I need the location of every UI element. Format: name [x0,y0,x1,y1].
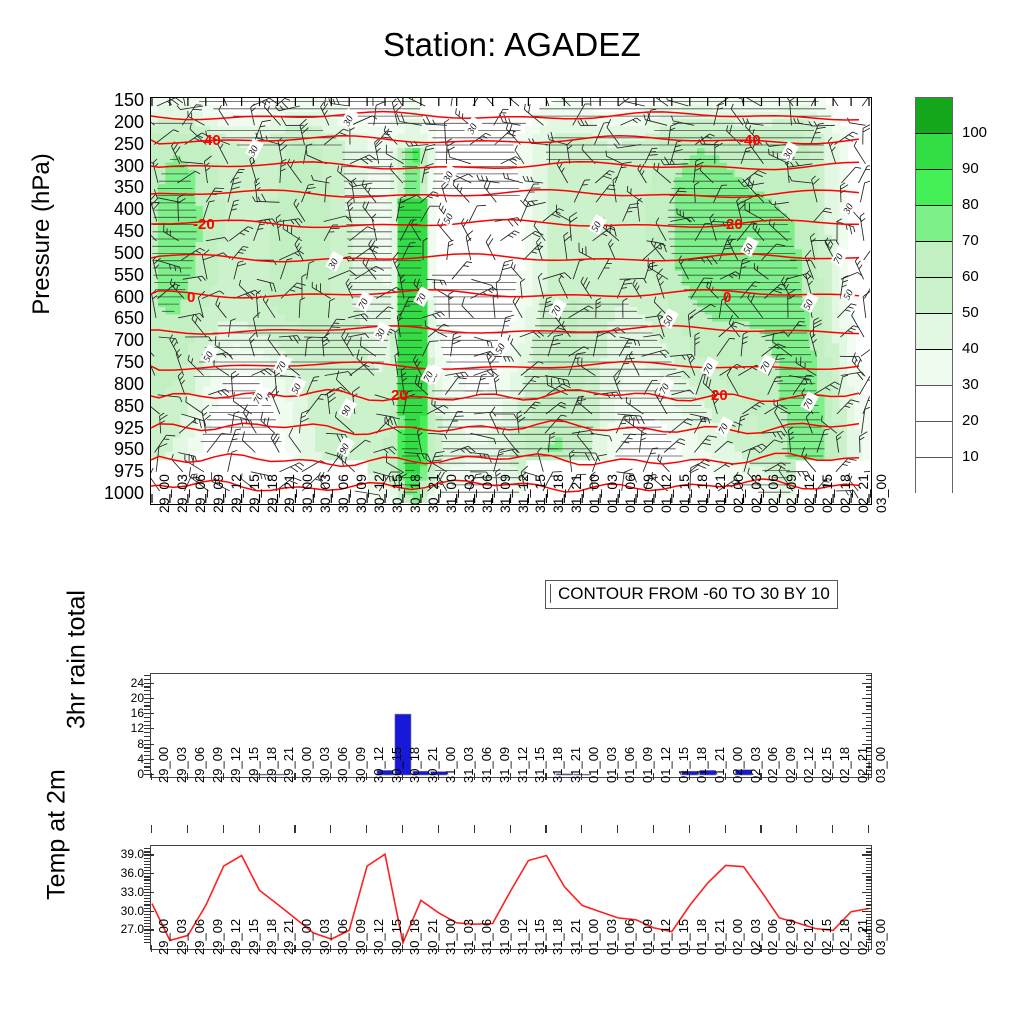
axis-tick [866,879,872,880]
axis-tick [832,825,833,833]
temp-y-tick-labels: 27.030.033.036.039.0 [96,845,144,950]
axis-tick [438,945,439,952]
axis-tick [866,898,872,899]
axis-tick [868,773,869,780]
main-x-tick: 31_00 [443,474,459,513]
axis-tick [832,773,833,780]
axis-tick [653,773,654,780]
main-y-tick-labels: 1502002503003504004505005506006507007508… [92,97,144,505]
axis-tick [796,773,797,780]
axis-tick [832,945,833,952]
main-y-tick: 350 [98,180,144,194]
rain-x-tick: 31_12 [515,747,530,783]
rain-y-tick: 24 [110,678,144,688]
axis-tick [144,933,150,934]
axis-tick [144,876,150,877]
rain-x-tick: 01_00 [586,747,601,783]
axis-tick [144,867,150,868]
axis-tick [868,945,869,952]
main-y-tick: 400 [98,202,144,216]
axis-tick [144,914,150,915]
axis-tick [259,825,260,833]
axis-tick [545,773,546,780]
axis-tick [545,945,546,952]
temp-y-axis-label: Temp at 2m [43,740,72,930]
axis-tick [144,747,150,748]
rain-x-tick: 29_12 [228,747,243,783]
temp-x-tick: 01_12 [658,919,673,955]
axis-tick [862,728,872,729]
temp-x-tick: 31_12 [515,919,530,955]
axis-tick [144,861,150,862]
axis-tick [653,825,654,833]
main-x-tick: 02_03 [748,474,764,513]
axis-tick [866,740,872,741]
axis-tick [862,713,872,714]
rain-x-tick: 31_18 [550,747,565,783]
axis-tick [866,717,872,718]
main-x-tick: 31_09 [497,474,513,513]
main-x-tick: 30_15 [389,474,405,513]
main-x-tick: 02_09 [783,474,799,513]
axis-tick [617,773,618,780]
temp-x-tick: 31_00 [443,919,458,955]
relative-humidity-colorbar[interactable] [915,97,953,493]
axis-tick [144,883,150,884]
temp-x-tick: 31_06 [479,919,494,955]
main-y-tick: 1000 [98,486,144,500]
axis-tick [866,709,872,710]
temp-x-tick: 01_18 [694,919,709,955]
temp-y-tick: 33.0 [98,887,144,897]
axis-tick [144,929,154,930]
axis-tick [866,876,872,877]
axis-tick [862,698,872,699]
axis-tick [866,679,872,680]
rain-x-tick: 30_18 [407,747,422,783]
colorbar-cell[interactable] [916,314,952,350]
colorbar-cell[interactable] [916,206,952,242]
axis-tick [862,744,872,745]
axis-tick [144,705,150,706]
axis-tick [760,945,761,952]
axis-tick [866,690,872,691]
rain-x-tick: 30_12 [371,747,386,783]
main-x-tick: 30_18 [407,474,423,513]
axis-tick [866,883,872,884]
axis-tick [144,721,150,722]
axis-tick [866,675,872,676]
rain-x-tick: 29_00 [156,747,171,783]
axis-tick [866,908,872,909]
axis-tick [144,732,150,733]
colorbar-cell[interactable] [916,98,952,134]
main-x-tick: 30_09 [353,474,369,513]
colorbar-cell[interactable] [916,422,952,458]
colorbar-tick: 10 [962,448,979,465]
axis-tick [438,825,439,833]
axis-tick [402,773,403,780]
axis-tick [144,886,150,887]
colorbar-cell[interactable] [916,134,952,170]
main-x-tick: 31_21 [568,474,584,513]
temp-x-tick: 03_00 [873,919,888,955]
colorbar-cell[interactable] [916,458,952,494]
axis-tick [866,705,872,706]
axis-tick [144,936,150,937]
axis-tick [144,923,150,924]
main-x-tick: 29_09 [210,474,226,513]
axis-tick [187,825,188,833]
colorbar-tick: 30 [962,376,979,393]
temp-x-tick: 02_06 [765,919,780,955]
axis-tick [725,773,726,780]
main-x-tick: 01_21 [712,474,728,513]
main-x-tick: 31_15 [532,474,548,513]
colorbar-tick: 40 [962,340,979,357]
axis-tick [144,864,150,865]
main-y-tick: 200 [98,115,144,129]
axis-tick [510,773,511,780]
axis-tick [862,892,872,893]
axis-tick [796,945,797,952]
main-y-tick: 650 [98,311,144,325]
axis-tick [144,854,154,855]
axis-tick [866,736,872,737]
main-x-tick: 30_21 [425,474,441,513]
main-x-tick: 01_00 [586,474,602,513]
temp-x-tick: 01_00 [586,919,601,955]
axis-tick [866,861,872,862]
axis-tick [144,858,150,859]
rain-y-tick: 8 [110,739,144,749]
axis-tick [144,873,154,874]
main-y-axis-label: Pressure (hPa) [28,74,56,394]
main-y-tick: 600 [98,290,144,304]
axis-tick [144,926,150,927]
main-x-tick: 01_12 [658,474,674,513]
axis-tick [866,858,872,859]
rain-x-tick: 02_06 [765,747,780,783]
colorbar-tick: 90 [962,160,979,177]
main-x-tick: 01_06 [622,474,638,513]
axis-tick [866,864,872,865]
temp-y-tick: 39.0 [98,849,144,859]
axis-tick [866,732,872,733]
main-x-tick: 01_15 [676,474,692,513]
axis-tick [223,825,224,833]
colorbar-cell[interactable] [916,278,952,314]
axis-tick [144,898,150,899]
axis-tick [151,773,152,780]
temp-y-tick: 36.0 [98,868,144,878]
axis-tick [144,908,150,909]
temp-x-tick: 29_12 [228,919,243,955]
temp-x-tick: 02_12 [801,919,816,955]
main-x-tick: 01_03 [604,474,620,513]
axis-tick [144,892,154,893]
colorbar-cell[interactable] [916,386,952,422]
rain-y-tick: 16 [110,708,144,718]
axis-tick [366,825,367,833]
axis-tick [144,755,150,756]
axis-tick [510,945,511,952]
main-x-tick: 29_18 [264,474,280,513]
rain-y-axis-label: 3hr rain total [63,565,92,755]
main-y-tick: 850 [98,399,144,413]
axis-tick [144,942,150,943]
axis-tick [474,825,475,833]
axis-tick [144,690,150,691]
axis-tick [144,851,150,852]
colorbar-tick: 70 [962,232,979,249]
temp-x-tick: 30_18 [407,919,422,955]
axis-tick [144,728,154,729]
axis-tick [144,889,150,890]
axis-tick [866,694,872,695]
main-y-tick: 700 [98,333,144,347]
axis-tick [862,854,872,855]
axis-tick [866,725,872,726]
axis-tick [223,773,224,780]
axis-tick [689,825,690,833]
axis-tick [866,721,872,722]
main-x-tick: 30_06 [335,474,351,513]
main-x-tick: 31_12 [515,474,531,513]
axis-tick [144,904,150,905]
main-x-tick: 02_12 [801,474,817,513]
main-y-tick: 950 [98,442,144,456]
contour-caption-text: CONTOUR FROM -60 TO 30 BY 10 [550,584,830,603]
axis-tick [330,945,331,952]
main-y-tick: 450 [98,224,144,238]
axis-tick [725,825,726,833]
main-y-tick: 250 [98,137,144,151]
axis-tick [144,895,150,896]
main-x-tick: 31_03 [461,474,477,513]
axis-tick [760,773,761,780]
main-x-tick: 29_12 [228,474,244,513]
colorbar-tick: 100 [962,124,987,141]
temp-x-tick: 30_06 [335,919,350,955]
main-x-tick: 29_00 [156,474,172,513]
axis-tick [866,848,872,849]
axis-tick [581,773,582,780]
axis-tick [866,870,872,871]
axis-tick [866,901,872,902]
axis-tick [223,945,224,952]
axis-tick [144,879,150,880]
axis-tick [366,945,367,952]
axis-tick [144,675,150,676]
axis-tick [144,848,150,849]
axis-tick [653,945,654,952]
rain-x-tick: 29_06 [192,747,207,783]
axis-tick [474,945,475,952]
rain-x-tick: 31_00 [443,747,458,783]
axis-tick [259,945,260,952]
axis-tick [510,825,511,833]
rain-x-tick: 02_18 [837,747,852,783]
main-y-tick: 925 [98,421,144,435]
colorbar-tick: 20 [962,412,979,429]
colorbar-cell[interactable] [916,170,952,206]
colorbar-cell[interactable] [916,242,952,278]
axis-tick [144,686,150,687]
temp-x-tick: 29_06 [192,919,207,955]
axis-tick [617,945,618,952]
axis-tick [581,825,582,833]
rain-y-tick: 4 [110,754,144,764]
axis-tick [617,825,618,833]
temp-y-tick: 30.0 [98,906,144,916]
axis-tick [144,870,150,871]
axis-tick [366,773,367,780]
page-title: Station: AGADEZ [0,26,1024,64]
axis-tick [581,945,582,952]
axis-tick [866,889,872,890]
main-x-tick: 02_00 [730,474,746,513]
axis-tick [144,683,154,684]
main-x-tick: 03_00 [873,474,889,513]
rain-x-tick: 01_18 [694,747,709,783]
main-y-tick: 150 [98,93,144,107]
contour-caption-box: CONTOUR FROM -60 TO 30 BY 10 [545,580,838,609]
rain-x-tick: 30_06 [335,747,350,783]
axis-tick [144,698,154,699]
rain-x-tick: 01_06 [622,747,637,783]
temp-x-tick: 02_18 [837,919,852,955]
main-y-tick: 750 [98,355,144,369]
main-x-tick: 01_18 [694,474,710,513]
rain-y-tick-labels: 04812162024 [108,673,144,778]
colorbar-tick: 80 [962,196,979,213]
main-y-tick: 300 [98,159,144,173]
main-x-tick: 29_21 [281,474,297,513]
axis-tick [545,825,546,833]
axis-tick [474,773,475,780]
main-x-tick: 30_00 [299,474,315,513]
axis-tick [402,825,403,833]
axis-tick [144,709,150,710]
axis-tick [689,773,690,780]
main-y-tick: 975 [98,464,144,478]
main-x-tick: 02_06 [765,474,781,513]
main-x-tick: 02_15 [819,474,835,513]
axis-tick [866,895,872,896]
colorbar-tick: 60 [962,268,979,285]
rain-x-tick: 31_06 [479,747,494,783]
axis-tick [862,911,872,912]
axis-tick [330,773,331,780]
temp-y-tick: 27.0 [98,924,144,934]
axis-tick [725,945,726,952]
rain-x-tick: 02_00 [730,747,745,783]
main-x-tick: 31_06 [479,474,495,513]
main-y-tick: 550 [98,268,144,282]
axis-tick [144,770,150,771]
axis-tick [868,825,869,833]
rain-x-tick: 01_12 [658,747,673,783]
axis-tick [144,917,150,918]
sounding-svg: 3030303030505050505050505050507070307070… [151,98,870,503]
rain-y-tick: 12 [110,723,144,733]
axis-tick [866,914,872,915]
axis-tick [144,713,154,714]
temp-x-tick: 29_00 [156,919,171,955]
axis-tick [187,945,188,952]
main-x-tick: 02_21 [855,474,871,513]
axis-tick [259,773,260,780]
axis-tick [144,774,154,775]
axis-tick [144,736,150,737]
axis-tick [294,825,295,833]
axis-tick [402,945,403,952]
axis-tick [144,740,150,741]
temp-x-tick: 30_00 [299,919,314,955]
temp-x-tick: 29_18 [264,919,279,955]
axis-tick [187,773,188,780]
axis-tick [144,694,150,695]
axis-tick [144,920,150,921]
axis-tick [866,686,872,687]
rain-x-tick: 29_18 [264,747,279,783]
axis-tick [866,702,872,703]
axis-tick [144,766,150,767]
axis-tick [144,702,150,703]
axis-tick [866,867,872,868]
axis-tick [796,825,797,833]
temp-x-tick: 01_06 [622,919,637,955]
rain-x-tick: 30_00 [299,747,314,783]
rain-x-tick: 03_00 [873,747,888,783]
main-x-tick: 29_03 [174,474,190,513]
colorbar-cell[interactable] [916,350,952,386]
axis-tick [144,725,150,726]
axis-tick [866,851,872,852]
sounding-cross-section-plot[interactable]: 3030303030505050505050505050507070307070… [150,97,872,505]
main-x-tick: 31_18 [550,474,566,513]
axis-tick [144,763,150,764]
main-y-tick: 500 [98,246,144,260]
axis-tick [294,945,295,952]
axis-tick [862,683,872,684]
axis-tick [760,825,761,833]
rain-y-tick: 0 [110,769,144,779]
axis-tick [144,751,150,752]
axis-tick [866,904,872,905]
axis-tick [330,825,331,833]
main-x-tick: 02_18 [837,474,853,513]
axis-tick [144,901,150,902]
axis-tick [294,773,295,780]
axis-tick [862,873,872,874]
axis-tick [144,759,154,760]
main-x-tick: 30_03 [317,474,333,513]
axis-tick [144,717,150,718]
temp-x-tick: 02_00 [730,919,745,955]
main-x-tick: 01_09 [640,474,656,513]
rain-y-tick: 20 [110,693,144,703]
axis-tick [689,945,690,952]
main-x-tick: 29_15 [246,474,262,513]
axis-tick [151,825,152,833]
axis-tick [144,744,154,745]
main-y-tick: 800 [98,377,144,391]
temp-x-tick: 30_12 [371,919,386,955]
rain-x-tick: 02_12 [801,747,816,783]
axis-tick [144,911,154,912]
